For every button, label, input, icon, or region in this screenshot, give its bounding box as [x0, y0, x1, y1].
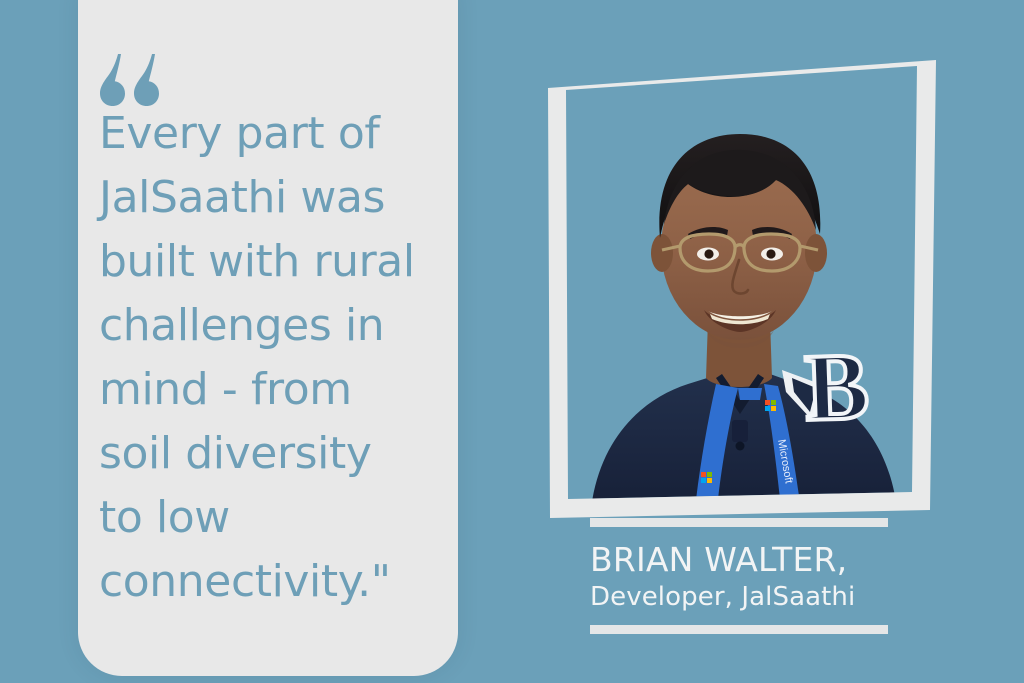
portrait-block: Microsoft Microsoft B: [520, 48, 960, 528]
quote-text: Every part of JalSaathi was built with r…: [99, 102, 445, 614]
person-role: Developer, JalSaathi: [590, 581, 890, 613]
attribution-block: BRIAN WALTER, Developer, JalSaathi: [590, 518, 890, 634]
quote-card: Every part of JalSaathi was built with r…: [78, 0, 458, 676]
attribution-rule-top: [590, 518, 888, 527]
tilted-photo-frame: [520, 48, 960, 528]
quote-testimonial-slide: Every part of JalSaathi was built with r…: [0, 0, 1024, 683]
attribution-rule-bottom: [590, 625, 888, 634]
double-quote-open-icon: [100, 54, 190, 106]
person-name: BRIAN WALTER,: [590, 541, 890, 579]
